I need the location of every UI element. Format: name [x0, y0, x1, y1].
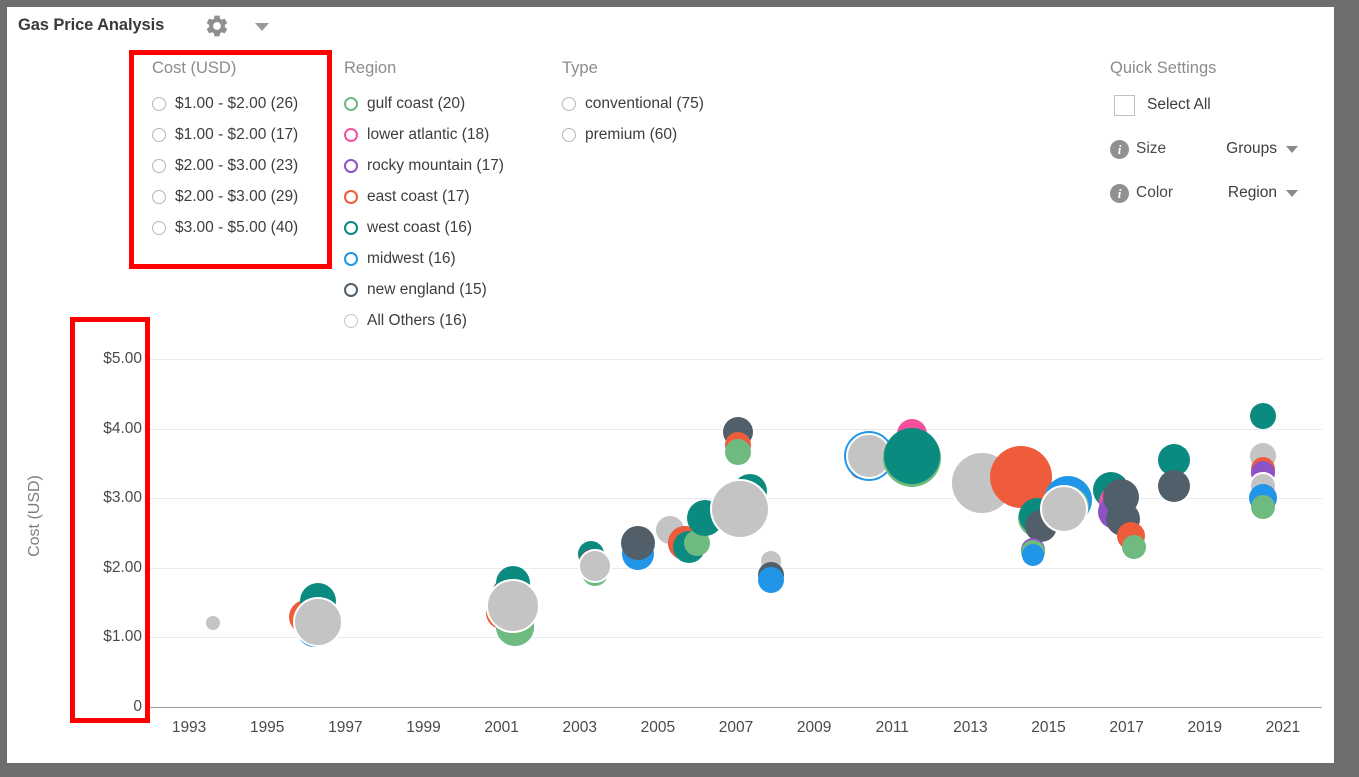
data-bubble[interactable]: [1158, 470, 1190, 502]
filter-group-cost: Cost (USD) $1.00 - $2.00 (26) $1.00 - $2…: [152, 59, 298, 243]
quick-setting-size-label: Size: [1136, 140, 1166, 158]
region-option-west-coast[interactable]: west coast (16): [344, 212, 504, 243]
gridline: [150, 707, 1322, 708]
quick-settings-title: Quick Settings: [1110, 59, 1298, 78]
x-axis-tick-label: 1993: [172, 719, 206, 737]
cost-option-2[interactable]: $2.00 - $3.00 (23): [152, 150, 298, 181]
x-axis-tick-label: 2021: [1266, 719, 1300, 737]
plot-canvas[interactable]: 1993199519971999200120032005200720092011…: [150, 337, 1322, 757]
x-axis-tick-label: 2011: [876, 719, 909, 737]
region-option-rocky-mountain[interactable]: rocky mountain (17): [344, 150, 504, 181]
data-bubble[interactable]: [204, 614, 222, 632]
cost-option-4[interactable]: $3.00 - $5.00 (40): [152, 212, 298, 243]
data-bubble[interactable]: [1022, 544, 1044, 566]
page-title: Gas Price Analysis: [18, 16, 164, 35]
data-bubble[interactable]: [621, 526, 655, 560]
radio-icon[interactable]: [344, 252, 358, 266]
type-option-label: conventional (75): [585, 95, 704, 113]
radio-icon[interactable]: [562, 97, 576, 111]
cost-option-1[interactable]: $1.00 - $2.00 (17): [152, 119, 298, 150]
filter-group-region-title: Region: [344, 59, 504, 78]
radio-icon[interactable]: [152, 128, 166, 142]
filter-group-region: Region gulf coast (20) lower atlantic (1…: [344, 59, 504, 336]
cost-option-label: $2.00 - $3.00 (23): [175, 157, 298, 175]
region-option-label: east coast (17): [367, 188, 470, 206]
region-option-label: midwest (16): [367, 250, 456, 268]
x-axis-tick-label: 1997: [328, 719, 362, 737]
type-option-premium[interactable]: premium (60): [562, 119, 704, 150]
cost-option-label: $1.00 - $2.00 (26): [175, 95, 298, 113]
x-axis-tick-label: 2013: [953, 719, 987, 737]
y-axis-tick-label: $4.00: [52, 420, 142, 438]
y-axis-tick-label: 0: [52, 698, 142, 716]
select-all-checkbox[interactable]: [1114, 95, 1135, 116]
data-bubble[interactable]: [578, 549, 612, 583]
x-axis-tick-label: 2009: [797, 719, 831, 737]
region-option-new-england[interactable]: new england (15): [344, 274, 504, 305]
x-axis-tick-label: 2017: [1109, 719, 1143, 737]
select-all-row[interactable]: Select All: [1114, 90, 1298, 120]
radio-icon[interactable]: [344, 190, 358, 204]
data-bubble[interactable]: [710, 479, 770, 539]
filter-group-type: Type conventional (75) premium (60): [562, 59, 704, 150]
region-option-label: lower atlantic (18): [367, 126, 489, 144]
x-axis-tick-label: 2001: [484, 719, 518, 737]
radio-icon[interactable]: [344, 128, 358, 142]
app-header: Gas Price Analysis: [7, 7, 1334, 45]
data-bubble[interactable]: [884, 428, 940, 484]
info-icon[interactable]: i: [1110, 140, 1129, 159]
y-axis-ticks: $5.00$4.00$3.00$2.00$1.000: [7, 337, 142, 757]
data-bubble[interactable]: [758, 567, 784, 593]
y-axis-tick-label: $5.00: [52, 350, 142, 368]
data-bubble[interactable]: [1251, 495, 1275, 519]
x-axis-tick-label: 2003: [562, 719, 596, 737]
quick-setting-color-value[interactable]: Region: [1208, 184, 1277, 202]
radio-icon[interactable]: [344, 314, 358, 328]
x-axis-tick-label: 2019: [1188, 719, 1222, 737]
y-axis-tick-label: $2.00: [52, 559, 142, 577]
data-bubble[interactable]: [1250, 403, 1276, 429]
region-option-label: rocky mountain (17): [367, 157, 504, 175]
radio-icon[interactable]: [152, 190, 166, 204]
gridline: [150, 359, 1322, 360]
x-axis-tick-label: 2015: [1031, 719, 1065, 737]
data-bubble[interactable]: [486, 579, 540, 633]
x-axis-tick-label: 1999: [406, 719, 440, 737]
bubble-chart: Cost (USD) $5.00$4.00$3.00$2.00$1.000 19…: [7, 337, 1334, 757]
radio-icon[interactable]: [344, 221, 358, 235]
y-axis-tick-label: $3.00: [52, 489, 142, 507]
gridline: [150, 568, 1322, 569]
data-bubble[interactable]: [293, 597, 343, 647]
cost-option-label: $1.00 - $2.00 (17): [175, 126, 298, 144]
region-option-all-others[interactable]: All Others (16): [344, 305, 504, 336]
data-bubble[interactable]: [1040, 485, 1088, 533]
region-option-east-coast[interactable]: east coast (17): [344, 181, 504, 212]
cost-option-3[interactable]: $2.00 - $3.00 (29): [152, 181, 298, 212]
region-option-label: All Others (16): [367, 312, 467, 330]
quick-setting-size-value[interactable]: Groups: [1206, 140, 1277, 158]
type-option-conventional[interactable]: conventional (75): [562, 88, 704, 119]
radio-icon[interactable]: [344, 159, 358, 173]
region-option-label: west coast (16): [367, 219, 472, 237]
quick-setting-color-label: Color: [1136, 184, 1173, 202]
region-option-gulf-coast[interactable]: gulf coast (20): [344, 88, 504, 119]
chevron-down-icon[interactable]: [255, 23, 269, 31]
filter-group-cost-title: Cost (USD): [152, 59, 298, 78]
x-axis-tick-label: 1995: [250, 719, 284, 737]
cost-option-label: $2.00 - $3.00 (29): [175, 188, 298, 206]
gear-icon[interactable]: [204, 13, 230, 39]
quick-setting-color[interactable]: i Color Region: [1110, 178, 1298, 208]
type-option-label: premium (60): [585, 126, 677, 144]
radio-icon[interactable]: [344, 283, 358, 297]
region-option-lower-atlantic[interactable]: lower atlantic (18): [344, 119, 504, 150]
chevron-down-icon[interactable]: [1286, 146, 1298, 153]
radio-icon[interactable]: [344, 97, 358, 111]
quick-setting-size[interactable]: i Size Groups: [1110, 134, 1298, 164]
chevron-down-icon[interactable]: [1286, 190, 1298, 197]
app-window: Gas Price Analysis Cost (USD) $1.00 - $2…: [7, 7, 1334, 763]
data-bubble[interactable]: [1122, 535, 1146, 559]
select-all-label: Select All: [1147, 96, 1211, 114]
filter-group-type-title: Type: [562, 59, 704, 78]
region-option-midwest[interactable]: midwest (16): [344, 243, 504, 274]
x-axis-tick-label: 2005: [641, 719, 675, 737]
info-icon[interactable]: i: [1110, 184, 1129, 203]
cost-option-label: $3.00 - $5.00 (40): [175, 219, 298, 237]
data-bubble[interactable]: [725, 439, 751, 465]
cost-option-0[interactable]: $1.00 - $2.00 (26): [152, 88, 298, 119]
radio-icon[interactable]: [152, 97, 166, 111]
region-option-label: gulf coast (20): [367, 95, 465, 113]
region-option-label: new england (15): [367, 281, 487, 299]
quick-settings-panel: Quick Settings Select All i Size Groups …: [1110, 59, 1298, 208]
y-axis-tick-label: $1.00: [52, 628, 142, 646]
x-axis-tick-label: 2007: [719, 719, 753, 737]
radio-icon[interactable]: [562, 128, 576, 142]
radio-icon[interactable]: [152, 159, 166, 173]
radio-icon[interactable]: [152, 221, 166, 235]
